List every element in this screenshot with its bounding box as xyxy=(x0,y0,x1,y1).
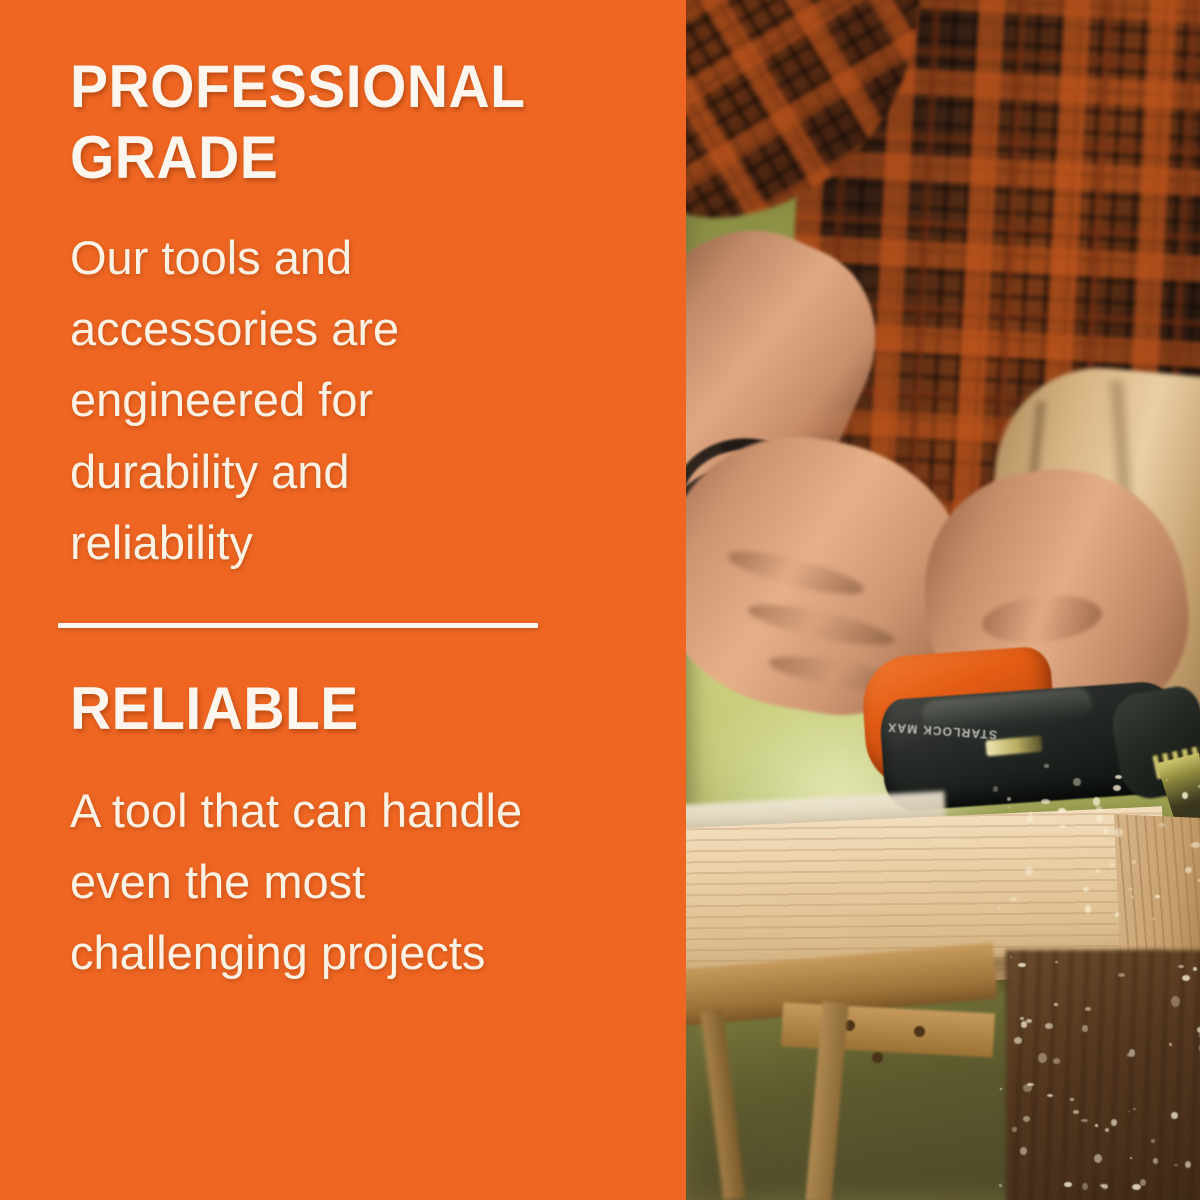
section-divider xyxy=(58,623,538,628)
sawdust-particle xyxy=(1000,1088,1003,1090)
sawdust-particle xyxy=(1012,1127,1016,1131)
sawdust-particle xyxy=(1044,764,1050,767)
sawdust-particle xyxy=(1041,799,1050,804)
sawdust-particle xyxy=(1029,812,1032,815)
sawdust-particle xyxy=(1093,797,1101,805)
sawdust-particle xyxy=(1128,1111,1130,1112)
body-reliable: A tool that can handle even the most cha… xyxy=(70,775,540,989)
sawdust-particle xyxy=(1129,1049,1135,1056)
body-professional-grade: Our tools and accessories are engineered… xyxy=(70,222,540,579)
sawdust-particle xyxy=(1152,917,1156,920)
sawdust-particle xyxy=(1010,956,1012,958)
feature-block-reliable: RELIABLE A tool that can handle even the… xyxy=(70,674,616,989)
sawdust-particle xyxy=(1105,1128,1109,1132)
sawdust-particle xyxy=(1073,1110,1079,1113)
sawdust-particle xyxy=(1171,1112,1178,1120)
sawdust-particle xyxy=(1191,842,1200,848)
sawdust-particle xyxy=(1185,867,1191,873)
dark-wood-backdrop xyxy=(1006,950,1200,1200)
sawdust-particle xyxy=(997,907,1000,909)
sawdust-particle xyxy=(1111,1119,1118,1126)
sawdust-particle xyxy=(993,786,998,791)
sawdust-particle xyxy=(1155,895,1160,898)
sawdust-particle xyxy=(1133,1108,1135,1110)
sawdust-particle xyxy=(1182,792,1188,799)
sawdust-particle xyxy=(999,1184,1002,1187)
sawhorse-hole xyxy=(872,1052,883,1063)
sawdust-particle xyxy=(1082,1183,1088,1190)
sawdust-particle xyxy=(1100,1184,1104,1187)
sawdust-particle xyxy=(1169,1043,1171,1045)
sawdust-particle xyxy=(1021,1021,1027,1027)
sawdust-particle xyxy=(1027,816,1033,821)
sawdust-particle xyxy=(1174,1164,1178,1166)
sawdust-particle xyxy=(1132,1184,1141,1190)
sawdust-particle xyxy=(1115,912,1119,917)
sawdust-particle xyxy=(1023,1116,1030,1122)
sawdust-particle xyxy=(1171,996,1180,1007)
sawdust-particle xyxy=(1153,1158,1158,1164)
sawhorse-hole xyxy=(914,1026,925,1037)
sawdust-particle xyxy=(1025,866,1033,876)
sawdust-particle xyxy=(1085,905,1091,912)
sawdust-particle xyxy=(1058,808,1066,813)
sawdust-particle xyxy=(1178,965,1184,968)
product-lifestyle-photo: STARLOCK MAX xyxy=(686,0,1200,1200)
sawdust-particle xyxy=(1114,828,1123,837)
sawdust-particle xyxy=(1020,1017,1023,1019)
heading-professional-grade: PROFESSIONAL GRADE xyxy=(70,52,564,194)
sawdust-particle xyxy=(1109,862,1115,867)
sawdust-particle xyxy=(1193,967,1196,971)
heading-reliable: RELIABLE xyxy=(70,674,564,745)
sawdust-particle xyxy=(1085,1007,1091,1011)
sawdust-particle xyxy=(1096,806,1102,813)
sawdust-particle xyxy=(1064,1182,1072,1187)
sawdust-particle xyxy=(1038,1053,1046,1063)
copy-panel: PROFESSIONAL GRADE Our tools and accesso… xyxy=(0,0,686,1200)
promo-banner: PROFESSIONAL GRADE Our tools and accesso… xyxy=(0,0,1200,1200)
feature-block-professional-grade: PROFESSIONAL GRADE Our tools and accesso… xyxy=(70,52,616,579)
sawdust-particle xyxy=(1008,806,1011,808)
sawdust-particle xyxy=(1073,778,1080,786)
